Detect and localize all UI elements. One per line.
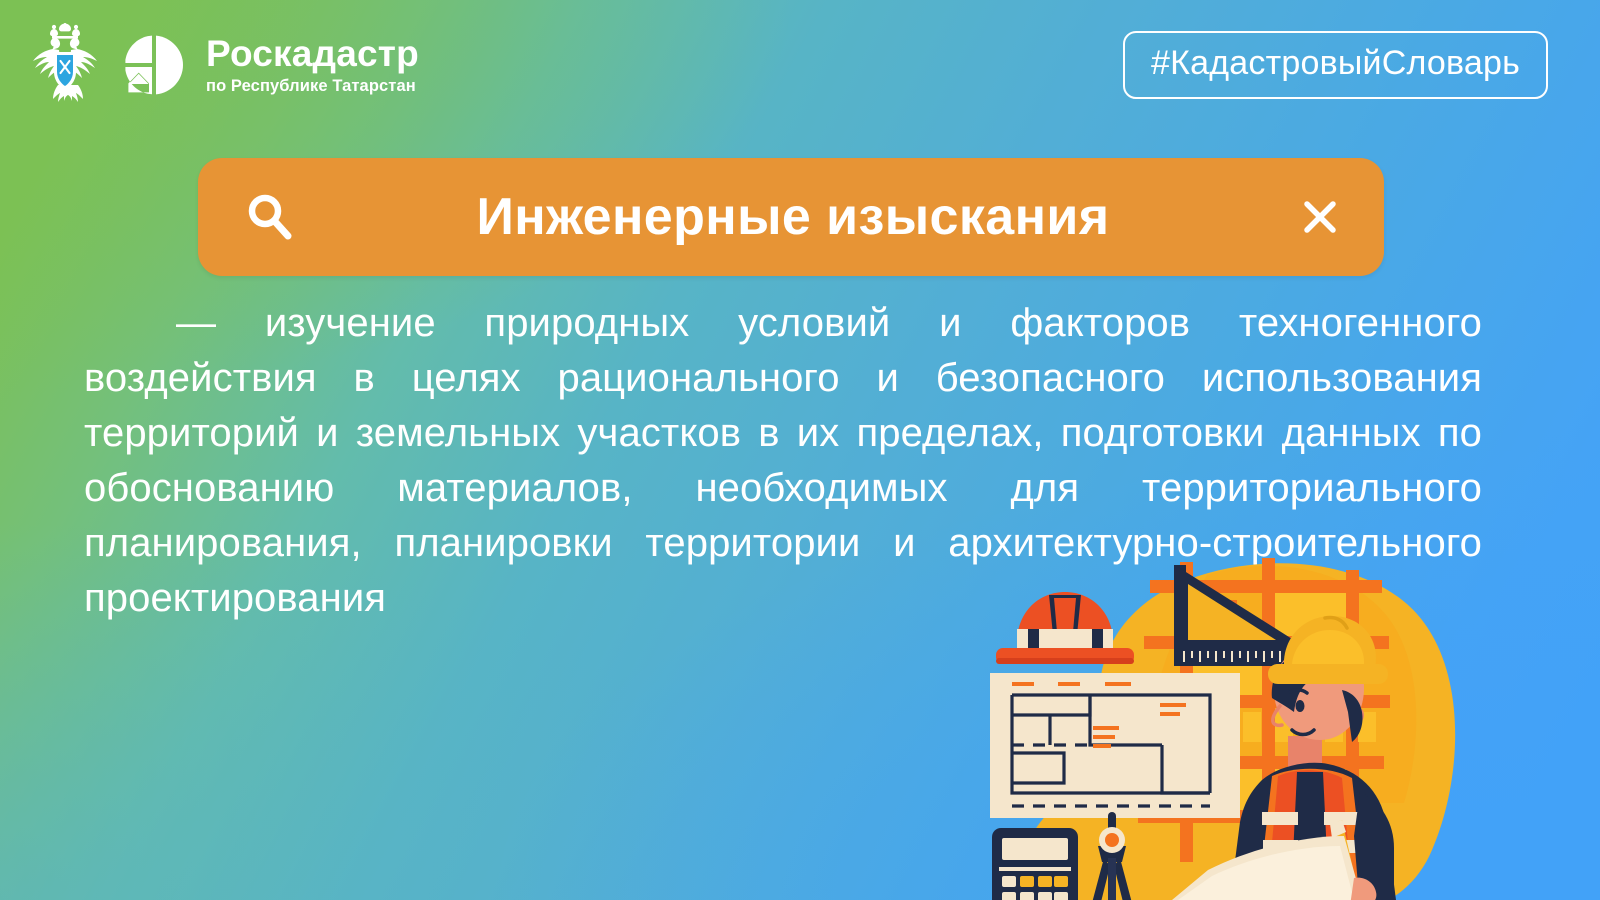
page-header: Роскадастр по Республике Татарстан #Када… bbox=[0, 0, 1600, 130]
brand-subtitle: по Республике Татарстан bbox=[206, 78, 419, 95]
russian-eagle-emblem-icon bbox=[28, 23, 102, 107]
brand-logo: Роскадастр по Республике Татарстан bbox=[28, 23, 419, 107]
search-bar[interactable]: Инженерные изыскания bbox=[198, 158, 1384, 276]
close-icon[interactable] bbox=[1300, 197, 1340, 237]
hashtag-badge[interactable]: #КадастровыйСловарь bbox=[1123, 31, 1548, 99]
search-term[interactable]: Инженерные изыскания bbox=[286, 187, 1300, 247]
brand-wordmark: Роскадастр по Республике Татарстан bbox=[206, 35, 419, 95]
definition-text: — изучение природных условий и факторов … bbox=[84, 296, 1482, 681]
roskadastr-circle-mark-icon bbox=[122, 33, 186, 97]
brand-title: Роскадастр bbox=[206, 35, 419, 72]
